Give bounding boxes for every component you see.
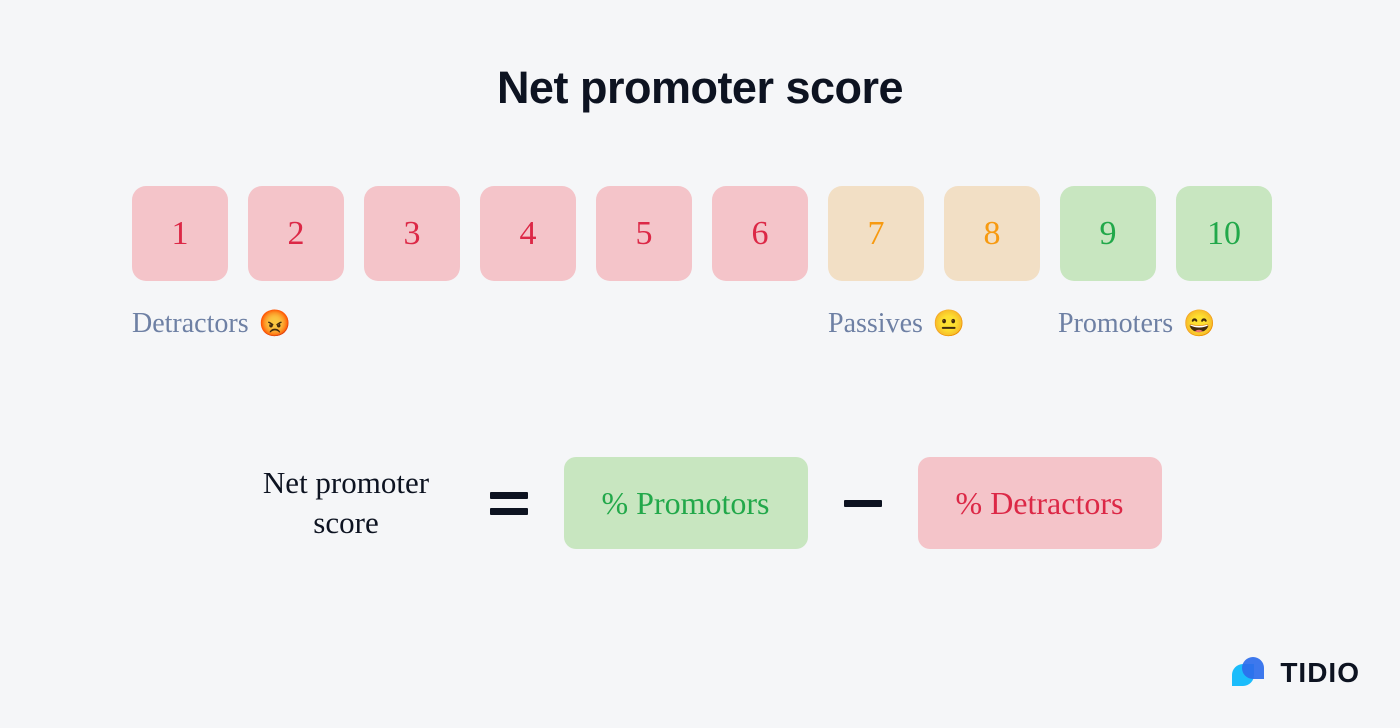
scale-tile-1[interactable]: 1	[132, 186, 228, 281]
legend-item-promoters: Promoters 😄	[1058, 308, 1215, 340]
formula-result-line1: Net promoter	[239, 463, 454, 503]
legend-item-passives: Passives 😐	[828, 308, 965, 340]
tidio-logo-mark-icon	[1228, 653, 1268, 693]
legend-item-detractors: Detractors 😡	[132, 308, 291, 340]
scale-tile-value: 6	[752, 217, 769, 251]
page-title: Net promoter score	[0, 62, 1400, 114]
grinning-face-emoji: 😄	[1183, 311, 1215, 337]
scale-tile-value: 5	[636, 217, 653, 251]
scale-tile-2[interactable]: 2	[248, 186, 344, 281]
scale-tile-3[interactable]: 3	[364, 186, 460, 281]
scale-tile-value: 2	[288, 217, 305, 251]
scale-tile-value: 7	[868, 217, 885, 251]
angry-face-emoji: 😡	[259, 311, 291, 337]
scale-tile-value: 10	[1207, 217, 1241, 251]
formula-result-label: Net promoter score	[239, 463, 454, 542]
neutral-face-emoji: 😐	[933, 311, 965, 337]
nps-formula: Net promoter score % Promotors % Detract…	[0, 448, 1400, 558]
scale-tile-5[interactable]: 5	[596, 186, 692, 281]
minus-sign-icon	[808, 500, 918, 507]
scale-tile-value: 9	[1100, 217, 1117, 251]
nps-scale: 1 2 3 4 5 6 7 8 9 10	[132, 186, 1272, 281]
formula-promoters-term: % Promotors	[564, 457, 808, 549]
legend-label: Passives	[828, 308, 923, 340]
formula-detractors-term: % Detractors	[918, 457, 1162, 549]
scale-tile-4[interactable]: 4	[480, 186, 576, 281]
scale-tile-6[interactable]: 6	[712, 186, 808, 281]
tidio-logo: TIDIO	[1228, 653, 1360, 693]
scale-tile-10[interactable]: 10	[1176, 186, 1272, 281]
equals-sign-icon	[454, 492, 564, 515]
scale-tile-8[interactable]: 8	[944, 186, 1040, 281]
formula-result-line2: score	[239, 503, 454, 543]
scale-tile-9[interactable]: 9	[1060, 186, 1156, 281]
scale-tile-value: 1	[172, 217, 189, 251]
category-legend: Detractors 😡 Passives 😐 Promoters 😄	[0, 308, 1400, 354]
formula-promoters-label: % Promotors	[602, 485, 770, 522]
legend-label: Promoters	[1058, 308, 1173, 340]
formula-detractors-label: % Detractors	[956, 485, 1124, 522]
scale-tile-value: 4	[520, 217, 537, 251]
scale-tile-value: 8	[984, 217, 1001, 251]
scale-tile-value: 3	[404, 217, 421, 251]
tidio-wordmark: TIDIO	[1280, 657, 1360, 689]
scale-tile-7[interactable]: 7	[828, 186, 924, 281]
legend-label: Detractors	[132, 308, 249, 340]
